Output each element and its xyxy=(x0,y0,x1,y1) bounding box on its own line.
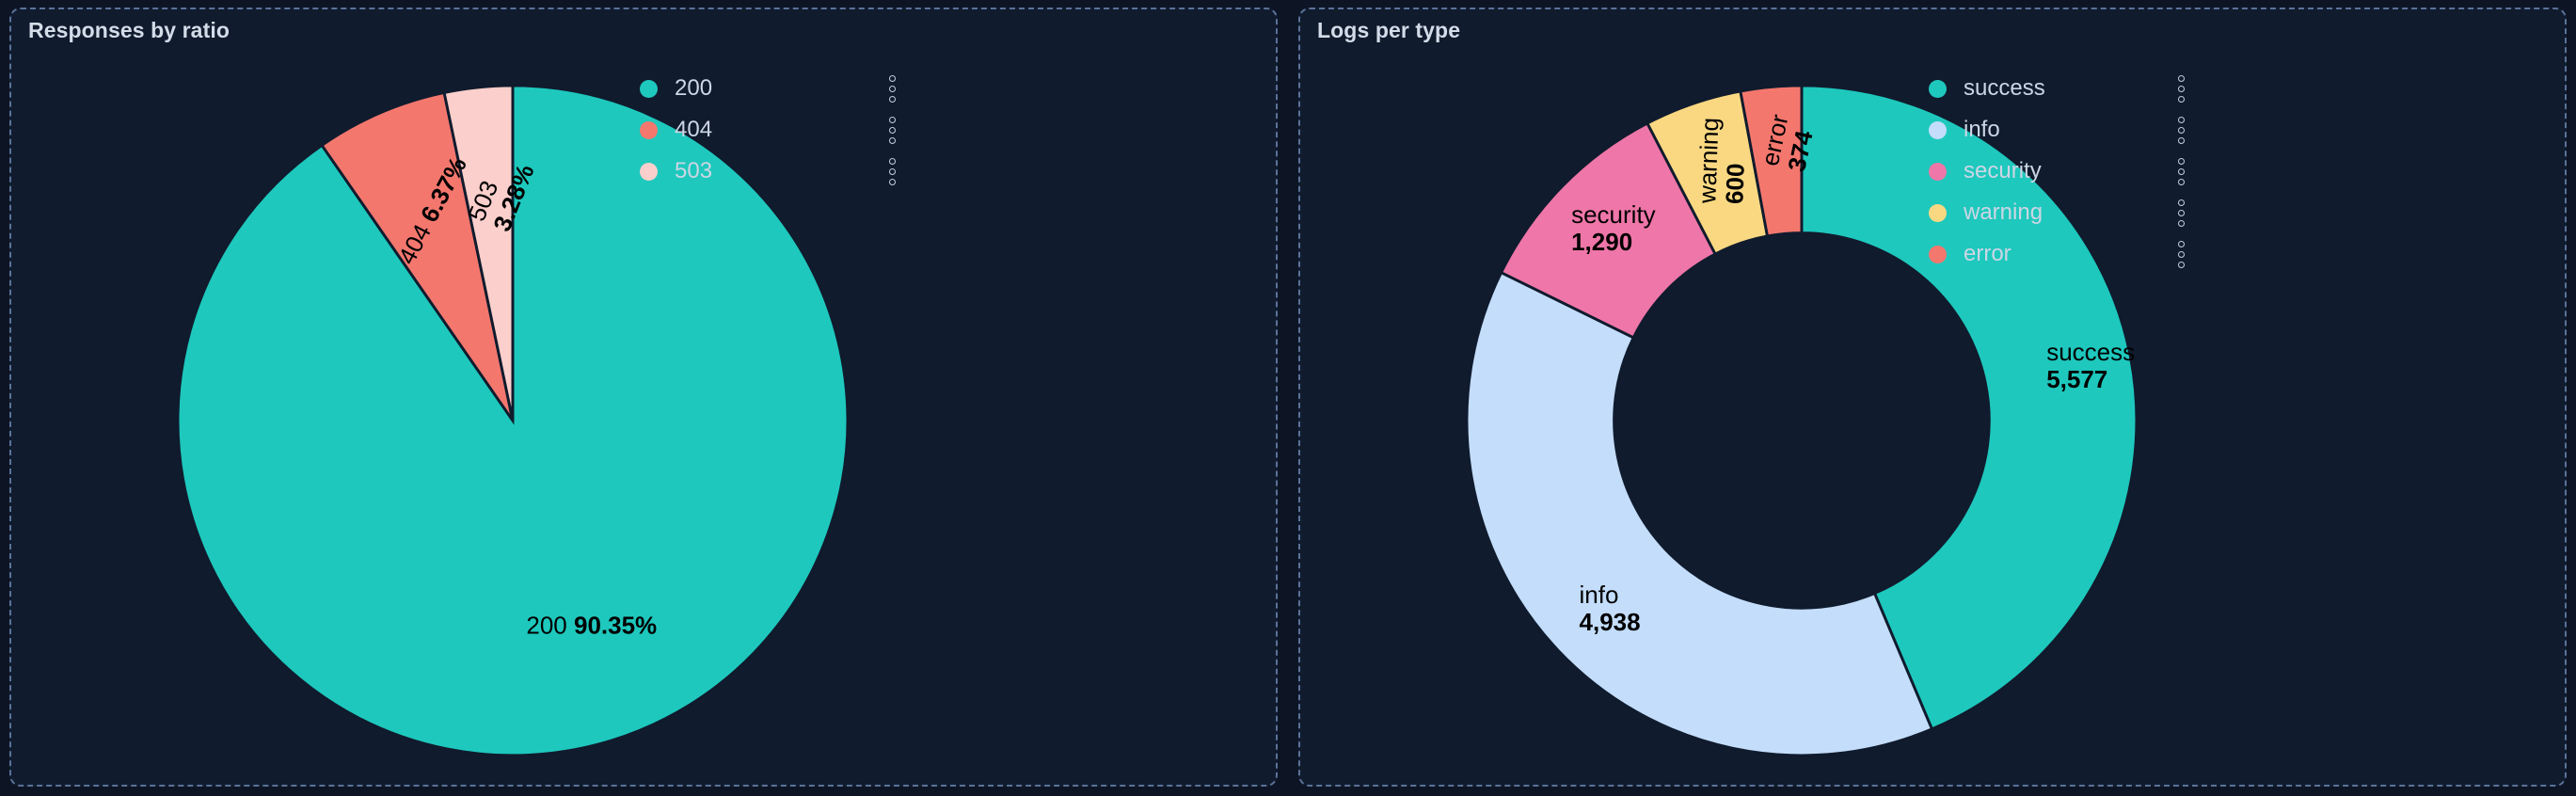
legend-color-swatch xyxy=(1929,80,1947,98)
panel-body: 200 90.35%404 6.37%5033.28% 200404503 xyxy=(11,51,1276,785)
legend-item-security[interactable]: security xyxy=(1929,151,2185,192)
panel-responses-by-ratio: Responses by ratio 200 90.35%404 6.37%50… xyxy=(9,8,1278,787)
legend-color-swatch xyxy=(640,80,658,98)
legend-item-200[interactable]: 200 xyxy=(640,68,896,109)
legend-overflow-menu-icon[interactable] xyxy=(857,158,896,185)
legend-item-info[interactable]: info xyxy=(1929,109,2185,151)
legend-overflow-menu-icon[interactable] xyxy=(857,75,896,103)
legend-overflow-menu-icon[interactable] xyxy=(2146,199,2185,227)
legend-item-success[interactable]: success xyxy=(1929,68,2185,109)
dashboard-root: Responses by ratio 200 90.35%404 6.37%50… xyxy=(0,0,2576,796)
legend-item-404[interactable]: 404 xyxy=(640,109,896,151)
legend-overflow-menu-icon[interactable] xyxy=(2146,158,2185,185)
legend-item-error[interactable]: error xyxy=(1929,233,2185,275)
legend-item-warning[interactable]: warning xyxy=(1929,192,2185,233)
page-title: Logs per type xyxy=(1317,18,1460,43)
legend-item-label: 200 xyxy=(675,77,712,100)
legend-item-label: info xyxy=(1964,119,2000,141)
panel-header: Responses by ratio xyxy=(11,9,1276,51)
legend-item-label: success xyxy=(1964,77,2045,100)
panel-body: success5,577info4,938security1,290warnin… xyxy=(1300,51,2565,785)
legend-color-swatch xyxy=(640,121,658,139)
legend-overflow-menu-icon[interactable] xyxy=(2146,117,2185,144)
legend-color-swatch xyxy=(1929,246,1947,263)
legend-item-503[interactable]: 503 xyxy=(640,151,896,192)
legend-color-swatch xyxy=(1929,204,1947,222)
legend-overflow-menu-icon[interactable] xyxy=(2146,75,2185,103)
legend-item-label: error xyxy=(1964,243,2012,265)
legend-color-swatch xyxy=(1929,121,1947,139)
chart-legend: successinfosecuritywarningerror xyxy=(1929,68,2185,275)
panel-header: Logs per type xyxy=(1300,9,2565,51)
legend-overflow-menu-icon[interactable] xyxy=(857,117,896,144)
chart-legend: 200404503 xyxy=(640,68,896,192)
pie-slice-info[interactable] xyxy=(1467,273,1932,756)
legend-item-label: security xyxy=(1964,160,2042,183)
panel-logs-per-type: Logs per type success5,577info4,938secur… xyxy=(1298,8,2567,787)
legend-color-swatch xyxy=(640,163,658,181)
legend-color-swatch xyxy=(1929,163,1947,181)
legend-overflow-menu-icon[interactable] xyxy=(2146,241,2185,268)
page-title: Responses by ratio xyxy=(28,18,230,43)
legend-item-label: 503 xyxy=(675,160,712,183)
legend-item-label: 404 xyxy=(675,119,712,141)
legend-item-label: warning xyxy=(1964,201,2043,224)
